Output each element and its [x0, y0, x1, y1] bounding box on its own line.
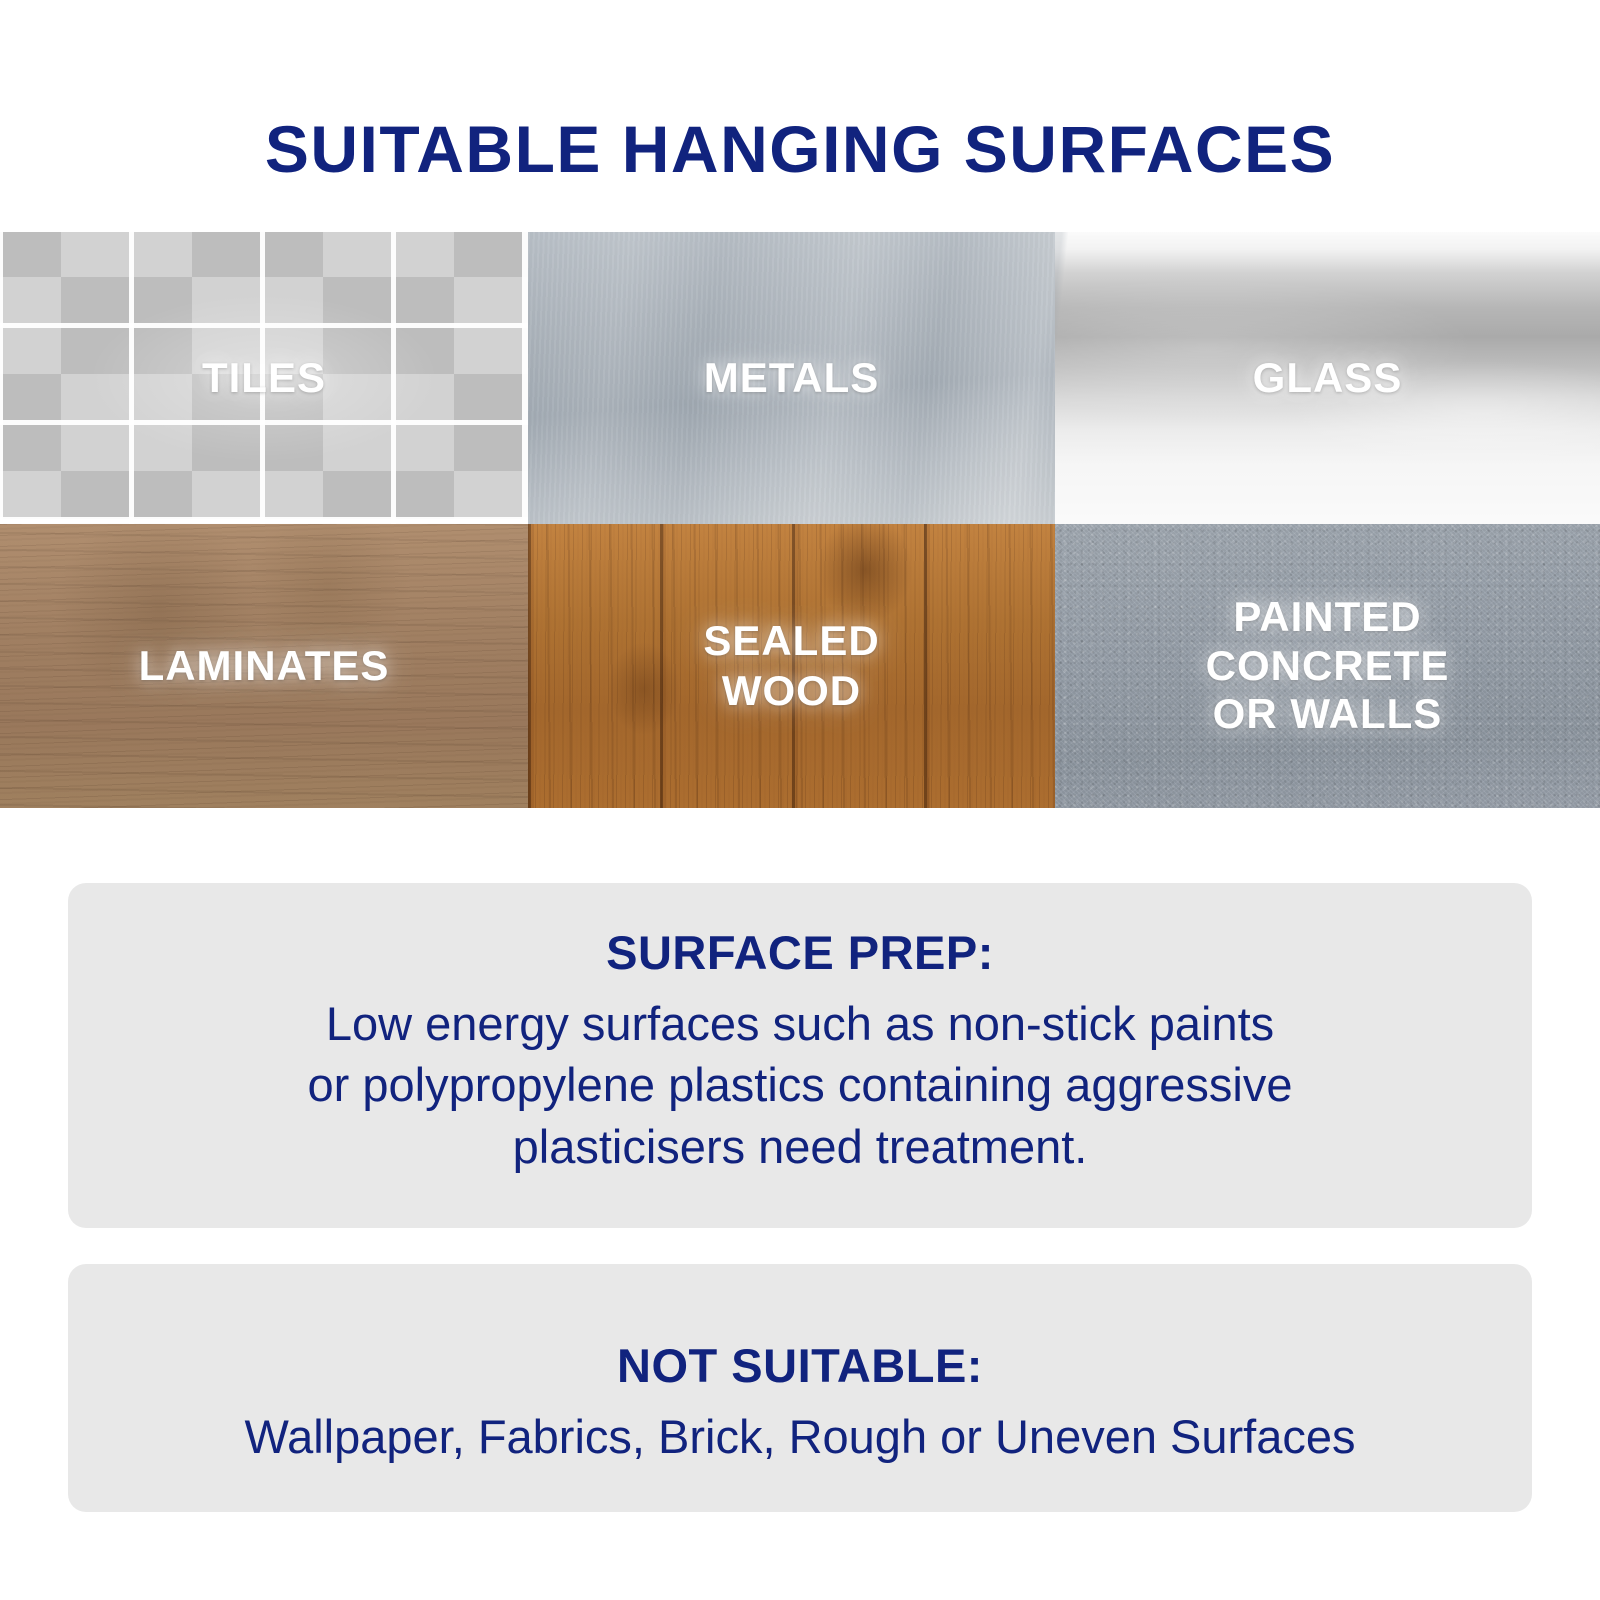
- surface-cell-sealed-wood: SEALED WOOD: [528, 524, 1055, 808]
- not-suitable-line-1: Wallpaper, Fabrics, Brick, Rough or Unev…: [108, 1406, 1492, 1467]
- surface-prep-body: Low energy surfaces such as non-stick pa…: [108, 993, 1492, 1176]
- surface-label-glass: GLASS: [1253, 353, 1403, 403]
- surface-prep-line-1: Low energy surfaces such as non-stick pa…: [108, 993, 1492, 1054]
- surface-cell-glass: GLASS: [1055, 232, 1600, 524]
- surface-label-sealed-wood: SEALED WOOD: [703, 616, 879, 715]
- surface-label-painted-concrete-line-3: OR WALLS: [1206, 690, 1450, 739]
- surface-cell-tiles: TILES: [0, 232, 528, 524]
- surface-cell-laminates: LAMINATES: [0, 524, 528, 808]
- surface-prep-line-3: plasticisers need treatment.: [108, 1116, 1492, 1177]
- infographic-page: SUITABLE HANGING SURFACES TILES METALS G…: [0, 0, 1600, 1600]
- surface-cell-painted-concrete: PAINTED CONCRETE OR WALLS: [1055, 524, 1600, 808]
- surface-image-grid: TILES METALS GLASS LAMINATES SEALED WOOD…: [0, 232, 1600, 808]
- surface-label-sealed-wood-line-1: SEALED: [703, 616, 879, 666]
- surface-label-painted-concrete: PAINTED CONCRETE OR WALLS: [1206, 593, 1450, 739]
- surface-label-laminates: LAMINATES: [139, 641, 390, 691]
- not-suitable-heading: NOT SUITABLE:: [108, 1338, 1492, 1394]
- not-suitable-body: Wallpaper, Fabrics, Brick, Rough or Unev…: [108, 1406, 1492, 1467]
- not-suitable-card: NOT SUITABLE: Wallpaper, Fabrics, Brick,…: [68, 1264, 1532, 1512]
- page-title: SUITABLE HANGING SURFACES: [0, 116, 1600, 182]
- surface-prep-heading: SURFACE PREP:: [108, 925, 1492, 981]
- surface-label-painted-concrete-line-1: PAINTED: [1206, 593, 1450, 642]
- surface-label-tiles: TILES: [202, 353, 326, 403]
- surface-prep-card: SURFACE PREP: Low energy surfaces such a…: [68, 883, 1532, 1228]
- surface-label-painted-concrete-line-2: CONCRETE: [1206, 642, 1450, 691]
- surface-label-metals: METALS: [704, 353, 880, 403]
- surface-label-sealed-wood-line-2: WOOD: [703, 666, 879, 716]
- surface-cell-metals: METALS: [528, 232, 1055, 524]
- surface-prep-line-2: or polypropylene plastics containing agg…: [108, 1054, 1492, 1115]
